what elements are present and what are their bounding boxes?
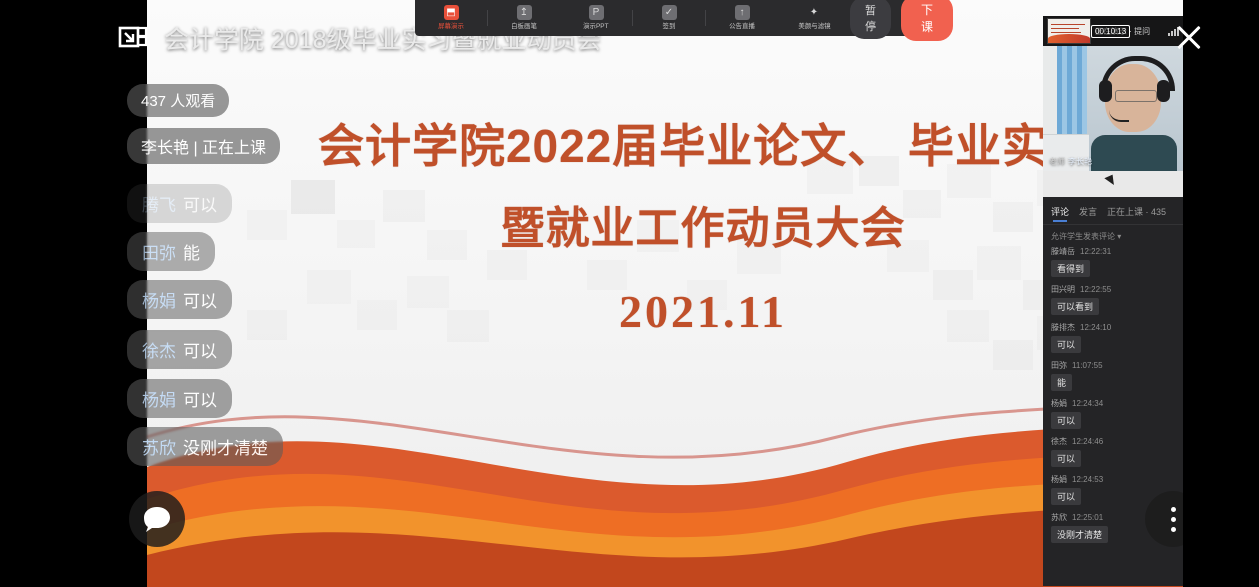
comment-time: 12:24:10 <box>1080 323 1111 332</box>
comment-username: 田弥 <box>1051 361 1067 370</box>
comment-username: 滕靖岳 <box>1051 247 1075 256</box>
floating-chat-message: 田弥能 <box>127 232 215 271</box>
left-letterbox <box>0 0 147 587</box>
chat-username: 苏欣 <box>142 439 176 458</box>
comment-item: 徐杰12:24:46 可以 <box>1051 436 1175 467</box>
comment-item: 滕靖岳12:22:31 看得到 <box>1051 246 1175 277</box>
comment-time: 12:22:55 <box>1080 285 1111 294</box>
floating-chat-message: 腾飞可以 <box>127 184 232 223</box>
tool-label: 美颜与滤镜 <box>798 21 830 30</box>
chat-bubble-icon <box>142 505 172 533</box>
tool-label: 演示PPT <box>583 21 608 30</box>
tab-in-class[interactable]: 正在上课 · 435 <box>1107 205 1166 222</box>
floating-chat-message: 苏欣没刚才清楚 <box>127 427 283 466</box>
nested-status-bar: 正在演示 · 提问 00:10:13 <box>1043 16 1183 46</box>
headset-earcup-left <box>1099 80 1112 102</box>
tab-speak[interactable]: 发言 <box>1079 205 1097 222</box>
floating-chat-message: 徐杰可以 <box>127 330 232 369</box>
chat-username: 徐杰 <box>142 342 176 361</box>
comment-time: 12:24:46 <box>1072 437 1103 446</box>
shared-slide-thumbnail <box>1047 18 1091 44</box>
nested-blank-strip <box>1043 171 1183 197</box>
tool-beauty-filter[interactable]: ✦ 美颜与滤镜 <box>778 5 850 31</box>
teacher-body <box>1091 135 1177 171</box>
restore-down-icon[interactable] <box>118 23 148 53</box>
comment-username: 滕排杰 <box>1051 323 1075 332</box>
comment-text: 可以看到 <box>1051 298 1099 315</box>
share-timer: 00:10:13 <box>1091 25 1130 38</box>
right-letterbox <box>1183 0 1259 587</box>
comment-username: 徐杰 <box>1051 437 1067 446</box>
teacher-status-badge: 李长艳 | 正在上课 <box>127 128 280 164</box>
comment-item: 滕排杰12:24:10 可以 <box>1051 322 1175 353</box>
tool-ppt[interactable]: P 演示PPT <box>560 5 632 31</box>
teacher-camera-feed: 老师李长艳 <box>1043 46 1183 171</box>
comment-text: 可以 <box>1051 488 1081 505</box>
chat-text: 可以 <box>183 342 217 361</box>
comment-meta: 田兴明12:22:55 <box>1051 284 1175 295</box>
tool-screen-share[interactable]: ⬒ 屏幕演示 <box>415 5 487 31</box>
beauty-filter-icon: ✦ <box>807 5 822 20</box>
comment-text: 可以 <box>1051 412 1081 429</box>
comment-meta: 徐杰12:24:46 <box>1051 436 1175 447</box>
comment-meta: 田弥11:07:55 <box>1051 360 1175 371</box>
floating-chat-message: 杨娟可以 <box>127 280 232 319</box>
tool-label: 签到 <box>663 21 676 30</box>
floating-chat-message: 杨娟可以 <box>127 379 232 418</box>
screen-root: 会计学院2022届毕业论文、 毕业实习 暨就业工作动员大会 2021.11 会计… <box>0 0 1259 587</box>
comment-meta: 滕靖岳12:22:31 <box>1051 246 1175 257</box>
comment-text: 可以 <box>1051 336 1081 353</box>
comment-meta: 杨娟12:24:53 <box>1051 474 1175 485</box>
tool-label: 屏幕演示 <box>438 21 464 30</box>
chat-text: 可以 <box>183 292 217 311</box>
screen-share-icon: ⬒ <box>444 5 459 20</box>
comment-time: 11:07:55 <box>1072 361 1103 370</box>
comment-item: 杨娟12:24:34 可以 <box>1051 398 1175 429</box>
comment-username: 杨娟 <box>1051 475 1067 484</box>
comment-username: 田兴明 <box>1051 285 1075 294</box>
comment-item: 田兴明12:22:55 可以看到 <box>1051 284 1175 315</box>
comment-text: 看得到 <box>1051 260 1090 277</box>
teacher-role-label: 老师 <box>1049 157 1065 166</box>
chat-button[interactable] <box>129 491 185 547</box>
chat-username: 杨娟 <box>142 391 176 410</box>
comment-meta: 滕排杰12:24:10 <box>1051 322 1175 333</box>
comment-text: 能 <box>1051 374 1072 391</box>
comment-meta: 杨娟12:24:34 <box>1051 398 1175 409</box>
comment-text: 可以 <box>1051 450 1081 467</box>
chat-text: 能 <box>183 244 200 263</box>
ppt-icon: P <box>589 5 604 20</box>
comment-item: 田弥11:07:55 能 <box>1051 360 1175 391</box>
chat-text: 可以 <box>183 196 217 215</box>
comment-time: 12:24:53 <box>1072 475 1103 484</box>
chat-text: 没刚才清楚 <box>183 439 268 458</box>
chat-text: 可以 <box>183 391 217 410</box>
comments-tabs: 评论 发言 正在上课 · 435 <box>1043 201 1183 222</box>
more-vertical-icon <box>1171 507 1176 532</box>
headset-earcup-right <box>1157 80 1170 102</box>
teacher-name-label: 李长艳 <box>1068 157 1092 166</box>
viewer-count-badge: 437 人观看 <box>127 84 229 117</box>
teacher-name-tag: 老师李长艳 <box>1049 156 1092 167</box>
chat-username: 腾飞 <box>142 196 176 215</box>
comment-time: 12:25:01 <box>1072 513 1103 522</box>
end-class-button[interactable]: 下课 <box>901 0 953 41</box>
announcement-icon: ↑ <box>735 5 750 20</box>
tool-label: 公告直播 <box>729 21 755 30</box>
comment-time: 12:24:34 <box>1072 399 1103 408</box>
tool-label: 白板画笔 <box>511 21 537 30</box>
class-toolbar: ⬒ 屏幕演示 ↥ 白板画笔 P 演示PPT ✓ 签到 ↑ 公告直播 ✦ 美颜与滤… <box>415 0 910 36</box>
chat-username: 田弥 <box>142 244 176 263</box>
mouse-cursor-icon <box>1104 175 1116 188</box>
comment-time: 12:22:31 <box>1080 247 1111 256</box>
chat-username: 杨娟 <box>142 292 176 311</box>
toolbar-actions: 暂停 下课 <box>850 0 969 41</box>
tool-whiteboard[interactable]: ↥ 白板画笔 <box>488 5 560 31</box>
comment-username: 苏欣 <box>1051 513 1067 522</box>
comment-username: 杨娟 <box>1051 399 1067 408</box>
comment-text: 没刚才清楚 <box>1051 526 1108 543</box>
tool-announcement[interactable]: ↑ 公告直播 <box>706 5 778 31</box>
tool-checkin[interactable]: ✓ 签到 <box>633 5 705 31</box>
pause-button[interactable]: 暂停 <box>850 0 891 39</box>
glasses <box>1115 90 1157 102</box>
checkin-icon: ✓ <box>662 5 677 20</box>
comment-permission-dropdown[interactable]: 允许学生发表评论 ▾ <box>1043 225 1183 246</box>
close-icon[interactable] <box>1172 20 1206 54</box>
tab-comments[interactable]: 评论 <box>1051 205 1069 222</box>
whiteboard-icon: ↥ <box>517 5 532 20</box>
